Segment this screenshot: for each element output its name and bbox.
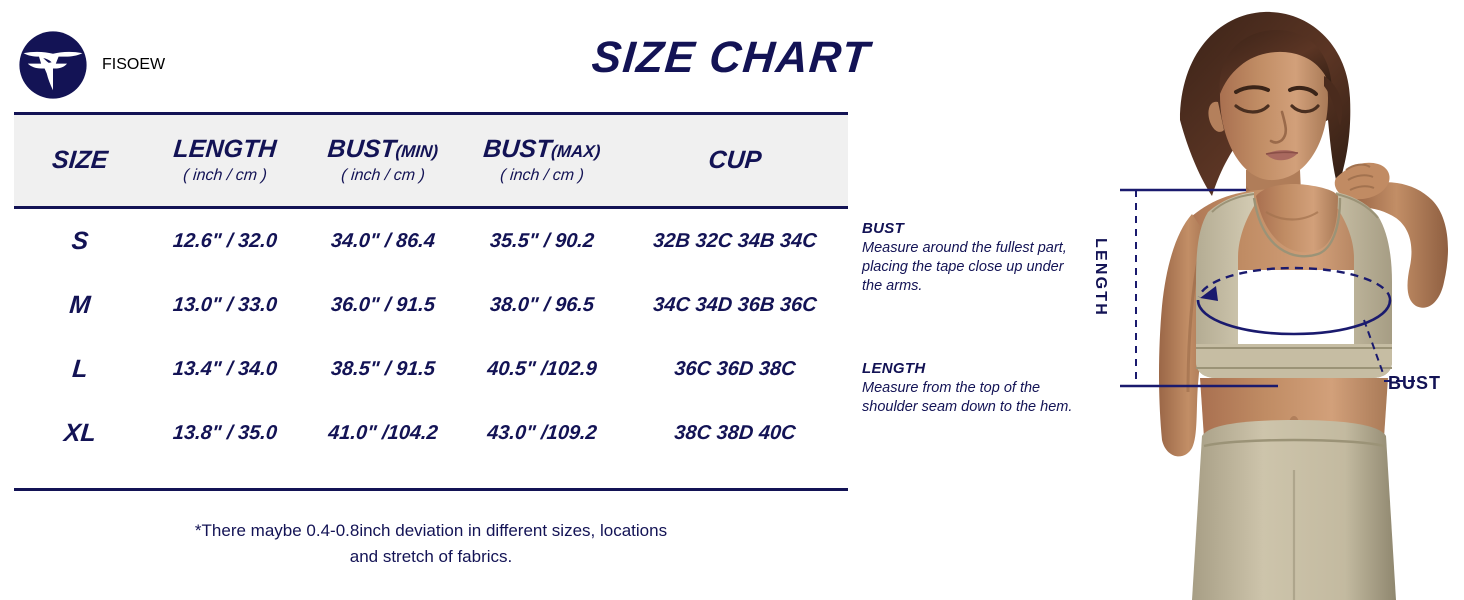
cell-bust-min: 34.0" / 86.4 bbox=[303, 230, 463, 253]
guide-body-length: Measure from the top of the shoulder sea… bbox=[862, 379, 1087, 417]
measure-guide-length: LENGTH Measure from the top of the shoul… bbox=[862, 360, 1087, 417]
guide-title-bust: BUST bbox=[862, 220, 1087, 237]
measurement-diagram-overlay bbox=[1096, 0, 1464, 600]
table-body: S 12.6" / 32.0 34.0" / 86.4 35.5" / 90.2… bbox=[14, 209, 848, 465]
size-chart-table: SIZE LENGTH ( inch / cm ) BUST(MIN) ( in… bbox=[14, 112, 848, 491]
cell-length: 12.6" / 32.0 bbox=[145, 230, 305, 253]
cell-bust-max: 40.5" /102.9 bbox=[461, 358, 623, 381]
table-row: M 13.0" / 33.0 36.0" / 91.5 38.0" / 96.5… bbox=[14, 273, 848, 337]
brand-name: FISOEW bbox=[102, 56, 165, 74]
diagram-bust-label: BUST bbox=[1388, 373, 1441, 394]
cell-length: 13.0" / 33.0 bbox=[145, 294, 305, 317]
bust-leader-line bbox=[1364, 320, 1384, 376]
cell-bust-min: 36.0" / 91.5 bbox=[303, 294, 463, 317]
footnote-line-1: *There maybe 0.4-0.8inch deviation in di… bbox=[14, 518, 848, 544]
size-chart-page: FISOEW SIZE CHART SIZE LENGTH ( inch / c… bbox=[0, 0, 1464, 600]
cell-length: 13.4" / 34.0 bbox=[145, 358, 305, 381]
column-header-bust-min: BUST(MIN) ( inch / cm ) bbox=[304, 136, 462, 185]
cell-size: M bbox=[13, 291, 148, 320]
table-header-row: SIZE LENGTH ( inch / cm ) BUST(MIN) ( in… bbox=[14, 112, 848, 209]
cell-cup: 36C 36D 38C bbox=[621, 358, 849, 381]
cell-bust-max: 43.0" /109.2 bbox=[461, 422, 623, 445]
model-photo-pane bbox=[1096, 0, 1464, 600]
cell-cup: 32B 32C 34B 34C bbox=[621, 230, 849, 253]
cell-bust-min: 38.5" / 91.5 bbox=[303, 358, 463, 381]
column-header-cup: CUP bbox=[622, 147, 848, 173]
cell-length: 13.8" / 35.0 bbox=[145, 422, 305, 445]
guide-title-length: LENGTH bbox=[862, 360, 1087, 377]
cell-bust-max: 38.0" / 96.5 bbox=[461, 294, 623, 317]
bust-ellipse-front-arc bbox=[1198, 300, 1390, 334]
measure-guide-bust: BUST Measure around the fullest part, pl… bbox=[862, 220, 1087, 296]
table-footnote: *There maybe 0.4-0.8inch deviation in di… bbox=[14, 518, 848, 571]
cell-size: S bbox=[13, 227, 148, 256]
table-row: XL 13.8" / 35.0 41.0" /104.2 43.0" /109.… bbox=[14, 401, 848, 465]
page-title: SIZE CHART bbox=[590, 36, 872, 80]
cell-cup: 38C 38D 40C bbox=[621, 422, 849, 445]
diagram-length-label: LENGTH bbox=[1091, 238, 1109, 317]
bust-ellipse-back-arc bbox=[1199, 268, 1390, 300]
column-header-size: SIZE bbox=[14, 147, 146, 173]
bust-direction-arrowhead bbox=[1200, 286, 1218, 301]
table-bottom-rule bbox=[14, 488, 848, 491]
footnote-line-2: and stretch of fabrics. bbox=[14, 544, 848, 570]
cell-bust-min: 41.0" /104.2 bbox=[303, 422, 463, 445]
guide-body-bust: Measure around the fullest part, placing… bbox=[862, 239, 1087, 296]
cell-cup: 34C 34D 36B 36C bbox=[621, 294, 849, 317]
cell-bust-max: 35.5" / 90.2 bbox=[461, 230, 623, 253]
column-header-length: LENGTH ( inch / cm ) bbox=[146, 136, 304, 185]
cell-size: XL bbox=[13, 419, 148, 448]
table-row: L 13.4" / 34.0 38.5" / 91.5 40.5" /102.9… bbox=[14, 337, 848, 401]
cell-size: L bbox=[13, 355, 148, 384]
column-header-bust-max: BUST(MAX) ( inch / cm ) bbox=[462, 136, 622, 185]
brand-logo: FISOEW bbox=[18, 30, 165, 100]
fisoew-wing-logo-icon bbox=[18, 30, 88, 100]
table-row: S 12.6" / 32.0 34.0" / 86.4 35.5" / 90.2… bbox=[14, 209, 848, 273]
